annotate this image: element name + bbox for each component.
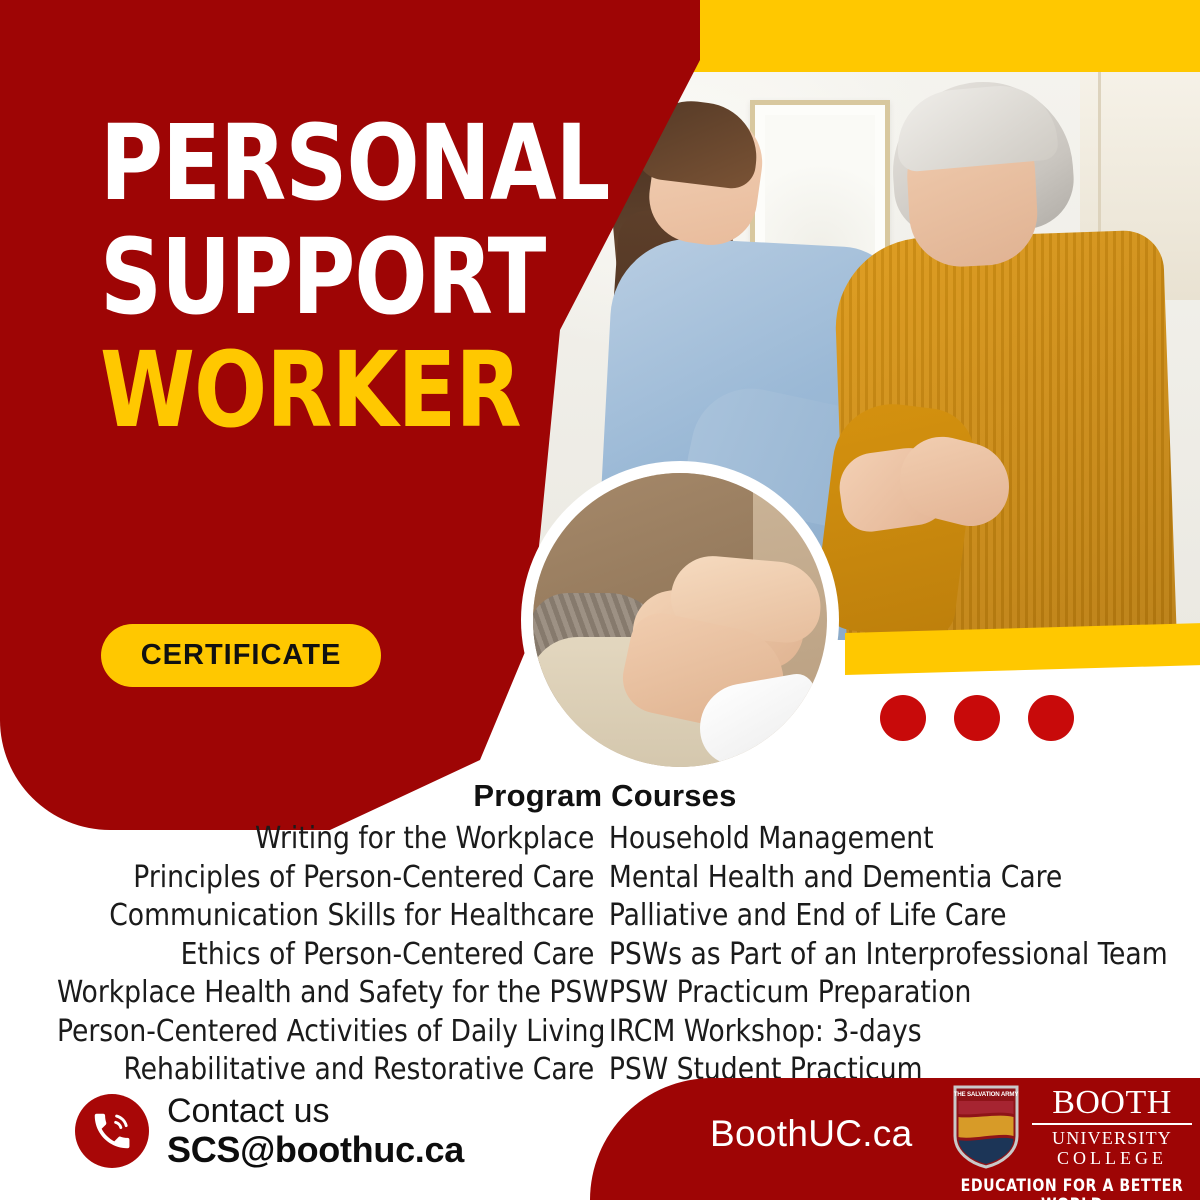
contact-label: Contact us <box>167 1092 464 1130</box>
course-item: Ethics of Person-Centered Care <box>57 936 605 975</box>
yellow-accent-bar <box>845 623 1200 675</box>
decor-dot <box>1028 695 1074 741</box>
dot-decoration-group <box>880 695 1074 741</box>
shield-text: THE SALVATION ARMY <box>954 1091 1020 1098</box>
courses-grid: Writing for the Workplace Household Mana… <box>40 820 1200 1090</box>
course-item: Principles of Person-Centered Care <box>57 859 605 898</box>
headline-line-1: PERSONAL <box>100 116 532 212</box>
contact-email[interactable]: SCS@boothuc.ca <box>167 1130 464 1170</box>
course-item: Household Management <box>605 820 1182 859</box>
contact-text: Contact us SCS@boothuc.ca <box>167 1092 464 1170</box>
course-item: PSWs as Part of an Interprofessional Tea… <box>605 936 1182 975</box>
circle-photo <box>533 473 827 767</box>
booth-university-college-logo: THE SALVATION ARMY BOOTH UNIVERSITY COLL… <box>952 1084 1192 1196</box>
website-link[interactable]: BoothUC.ca <box>710 1113 913 1155</box>
course-item: Palliative and End of Life Care <box>605 897 1182 936</box>
booth-wordmark: BOOTH UNIVERSITY COLLEGE <box>1032 1086 1192 1168</box>
contact-block: Contact us SCS@boothuc.ca <box>75 1092 464 1170</box>
logo-tagline: EDUCATION FOR A BETTER WORLD <box>958 1176 1186 1200</box>
course-item: Mental Health and Dementia Care <box>605 859 1182 898</box>
course-item: Writing for the Workplace <box>57 820 605 859</box>
decor-dot <box>954 695 1000 741</box>
course-item: Person-Centered Activities of Daily Livi… <box>57 1013 605 1052</box>
headline-line-3: WORKER <box>100 343 532 439</box>
salvation-army-shield-icon: THE SALVATION ARMY <box>952 1084 1020 1170</box>
psw-program-poster: PERSONAL SUPPORT WORKER CERTIFICATE Prog… <box>0 0 1200 1200</box>
course-item: Workplace Health and Safety for the PSW <box>57 974 605 1013</box>
program-courses-title: Program Courses <box>40 778 1200 814</box>
certificate-badge: CERTIFICATE <box>101 624 381 687</box>
logo-divider <box>1032 1123 1192 1125</box>
program-courses-section: Program Courses Writing for the Workplac… <box>40 778 1200 1090</box>
logo-name-college: COLLEGE <box>1032 1148 1192 1168</box>
decor-dot <box>880 695 926 741</box>
course-item: Rehabilitative and Restorative Care <box>57 1051 605 1090</box>
phone-ringing-icon <box>75 1094 149 1168</box>
course-item: Communication Skills for Healthcare <box>57 897 605 936</box>
logo-name-booth: BOOTH <box>1032 1086 1192 1120</box>
course-item: PSW Practicum Preparation <box>605 974 1182 1013</box>
course-item: IRCM Workshop: 3-days <box>605 1013 1182 1052</box>
circle-photo-frame <box>521 461 839 779</box>
headline-line-2: SUPPORT <box>100 230 532 326</box>
poster-headline: PERSONAL SUPPORT WORKER <box>100 116 570 457</box>
logo-name-university: UNIVERSITY <box>1032 1128 1192 1148</box>
